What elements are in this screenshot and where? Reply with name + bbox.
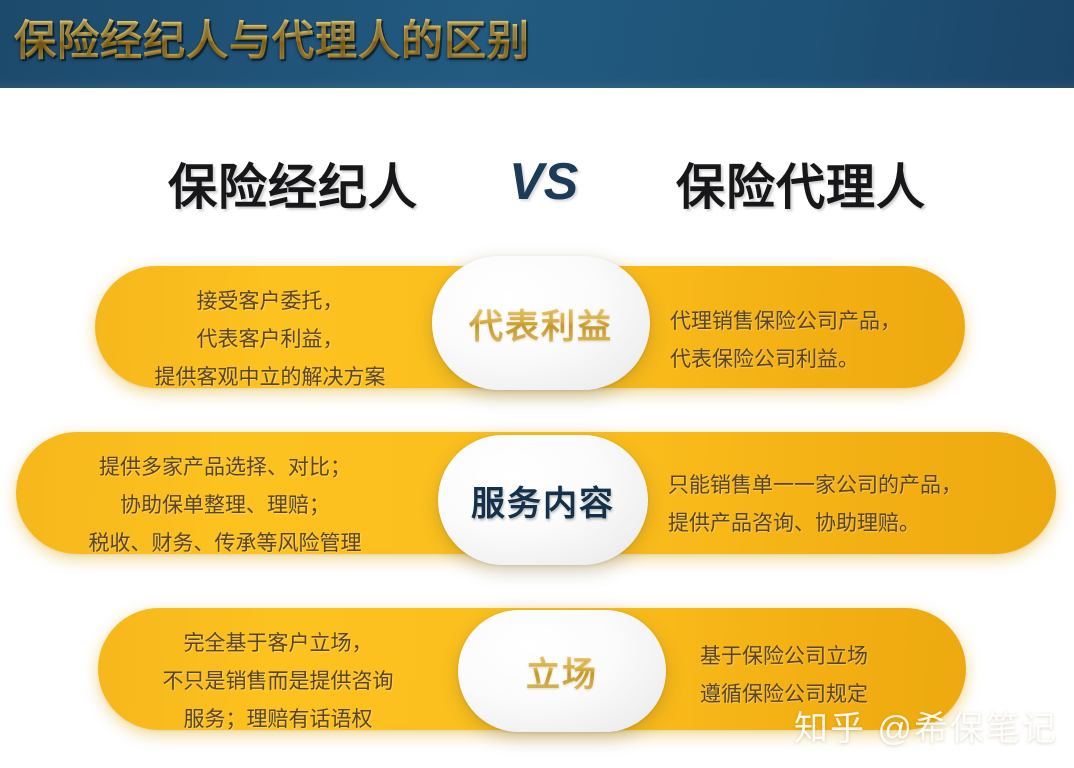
row-2-broker-line-2: 协助保单整理、理赔； (25, 487, 425, 525)
row-2-broker-line-3: 税收、财务、传承等风险管理 (25, 525, 425, 563)
row-3-broker-text: 完全基于客户立场， 不只是销售而是提供咨询 服务；理赔有话语权 (98, 625, 458, 739)
row-1-broker-text: 接受客户委托， 代表客户利益， 提供客观中立的解决方案 (95, 283, 445, 397)
row-1-broker-line-3: 提供客观中立的解决方案 (95, 359, 445, 397)
row-2-category-label: 服务内容 (471, 476, 615, 525)
page-title: 保险经纪人与代理人的区别 (14, 6, 530, 76)
row-3-agent-line-1: 基于保险公司立场 (700, 638, 1000, 676)
row-2-broker-text: 提供多家产品选择、对比； 协助保单整理、理赔； 税收、财务、传承等风险管理 (25, 449, 425, 563)
row-2-category-badge: 服务内容 (438, 435, 648, 565)
row-3-agent-text: 基于保险公司立场 遵循保险公司规定 (700, 638, 1000, 714)
header-bar: 保险经纪人与代理人的区别 保险经纪人与代理人的区别 (0, 0, 1074, 88)
row-2-agent-line-2: 提供产品咨询、协助理赔。 (668, 505, 1028, 543)
row-3-agent-line-2: 遵循保险公司规定 (700, 676, 1000, 714)
row-3-category-label: 立场 (526, 647, 598, 696)
row-1-category-badge: 代表利益 (432, 256, 650, 390)
row-1-agent-line-1: 代理销售保险公司产品， (670, 303, 970, 341)
vs-label: VS (509, 152, 578, 212)
row-1-broker-line-1: 接受客户委托， (95, 283, 445, 321)
row-1-broker-line-2: 代表客户利益， (95, 321, 445, 359)
row-3-broker-line-2: 不只是销售而是提供咨询 (98, 663, 458, 701)
row-1-agent-text: 代理销售保险公司产品， 代表保险公司利益。 (670, 303, 970, 379)
row-1-agent-line-2: 代表保险公司利益。 (670, 341, 970, 379)
row-3-broker-line-1: 完全基于客户立场， (98, 625, 458, 663)
row-3-broker-line-3: 服务；理赔有话语权 (98, 701, 458, 739)
row-2-agent-text: 只能销售单一一家公司的产品， 提供产品咨询、协助理赔。 (668, 467, 1028, 543)
column-heading-agent: 保险代理人 (676, 148, 926, 219)
row-2-agent-line-1: 只能销售单一一家公司的产品， (668, 467, 1028, 505)
row-2-broker-line-1: 提供多家产品选择、对比； (25, 449, 425, 487)
column-heading-broker: 保险经纪人 (168, 148, 418, 219)
row-3-category-badge: 立场 (458, 610, 666, 732)
row-1-category-label: 代表利益 (469, 299, 613, 348)
